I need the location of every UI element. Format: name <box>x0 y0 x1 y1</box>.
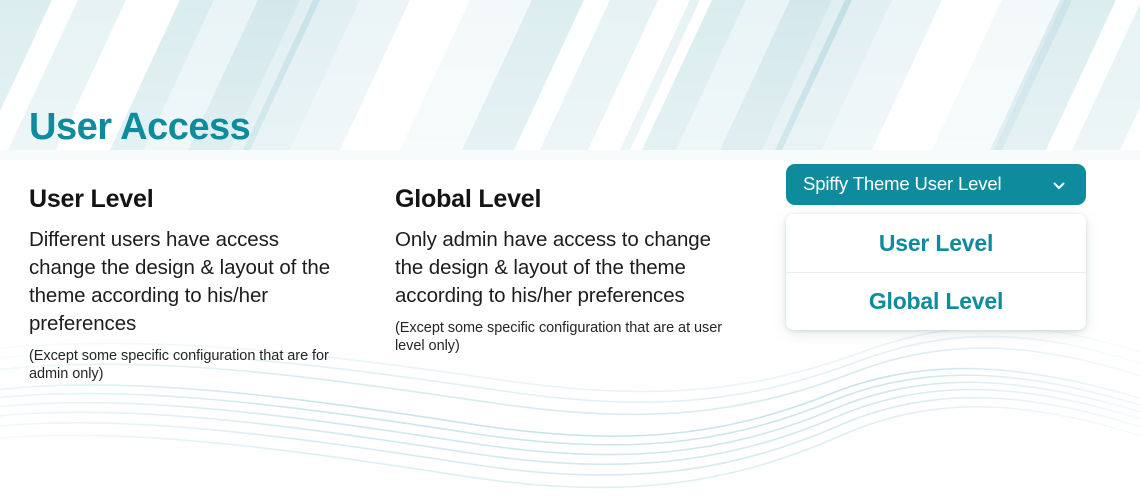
column-note-global-level: (Except some specific configuration that… <box>395 319 725 355</box>
dropdown-option-global-level[interactable]: Global Level <box>786 272 1086 330</box>
dropdown-option-label: User Level <box>879 230 993 257</box>
dropdown-toggle-button[interactable]: Spiffy Theme User Level <box>786 164 1086 205</box>
page-title: User Access <box>29 108 250 146</box>
chevron-down-icon[interactable] <box>1050 176 1068 194</box>
column-heading-user-level: User Level <box>29 185 369 214</box>
slide-canvas: User Access User Level Different users h… <box>0 0 1140 500</box>
column-note-user-level: (Except some specific configuration that… <box>29 347 359 383</box>
column-body-user-level: Different users have access change the d… <box>29 226 349 338</box>
dropdown-option-label: Global Level <box>869 288 1003 315</box>
column-global-level: Global Level Only admin have access to c… <box>395 185 735 355</box>
user-level-dropdown: Spiffy Theme User Level User Level Globa… <box>786 164 1086 330</box>
dropdown-options-panel: User Level Global Level <box>786 214 1086 330</box>
dropdown-option-user-level[interactable]: User Level <box>786 214 1086 272</box>
column-user-level: User Level Different users have access c… <box>29 185 369 383</box>
column-body-global-level: Only admin have access to change the des… <box>395 226 715 310</box>
column-heading-global-level: Global Level <box>395 185 735 214</box>
dropdown-selected-label: Spiffy Theme User Level <box>803 175 1050 194</box>
